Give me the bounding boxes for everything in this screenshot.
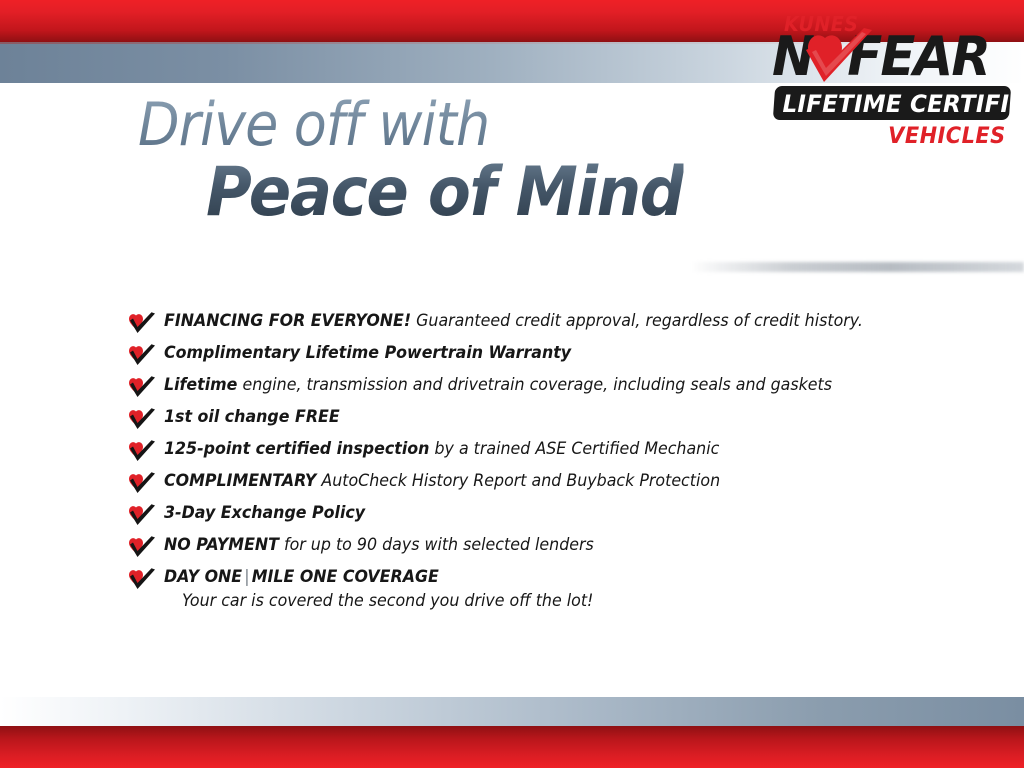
list-item-strong-a: DAY ONE: [164, 567, 242, 586]
heart-check-icon: [128, 408, 156, 430]
list-item: 125-point certified inspection by a trai…: [128, 437, 958, 469]
list-item-normal: for up to 90 days with selected lenders: [279, 535, 594, 554]
list-item-text: COMPLIMENTARY AutoCheck History Report a…: [164, 469, 926, 493]
bottom-slate-banner-bar: [0, 697, 1024, 726]
list-item-strong: 3-Day Exchange Policy: [164, 503, 365, 522]
header-divider: [690, 262, 1024, 272]
kunes-no-fear-logo: KUNES NFEAR LIFETIME CERTIFIED VEHICLES: [766, 12, 1010, 150]
list-item: NO PAYMENT for up to 90 days with select…: [128, 533, 958, 565]
headline-line-2: Peace of Mind: [206, 159, 683, 227]
list-item-pipe-separator: |: [242, 567, 252, 586]
list-item-text: FINANCING FOR EVERYONE! Guaranteed credi…: [164, 309, 926, 333]
heart-check-icon: [128, 376, 156, 398]
logo-certified-text: LIFETIME CERTIFIED: [783, 90, 1002, 118]
list-item: DAY ONE|MILE ONE COVERAGE Your car is co…: [128, 565, 958, 619]
list-item-strong: Complimentary Lifetime Powertrain Warran…: [164, 343, 571, 362]
list-item-subtext: Your car is covered the second you drive…: [182, 589, 927, 613]
list-item-normal: by a trained ASE Certified Mechanic: [429, 439, 719, 458]
benefits-list: FINANCING FOR EVERYONE! Guaranteed credi…: [128, 309, 958, 619]
heart-check-icon: [128, 440, 156, 462]
list-item-strong: Lifetime: [164, 375, 237, 394]
list-item: Lifetime engine, transmission and drivet…: [128, 373, 958, 405]
heart-check-icon: [128, 568, 156, 590]
list-item-strong: FINANCING FOR EVERYONE!: [164, 311, 411, 330]
list-item-strong: 125-point certified inspection: [164, 439, 429, 458]
heart-check-icon: [128, 344, 156, 366]
bottom-red-banner-bar: [0, 726, 1024, 768]
list-item: Complimentary Lifetime Powertrain Warran…: [128, 341, 958, 373]
headline-line-1: Drive off with: [138, 95, 666, 155]
list-item-text: NO PAYMENT for up to 90 days with select…: [164, 533, 926, 557]
list-item: FINANCING FOR EVERYONE! Guaranteed credi…: [128, 309, 958, 341]
heart-check-icon: [128, 472, 156, 494]
list-item-text: DAY ONE|MILE ONE COVERAGE: [164, 565, 926, 589]
list-item-strong: NO PAYMENT: [164, 535, 279, 554]
list-item: COMPLIMENTARY AutoCheck History Report a…: [128, 469, 958, 501]
list-item: 3-Day Exchange Policy: [128, 501, 958, 533]
heart-check-icon: [128, 504, 156, 526]
list-item-normal: AutoCheck History Report and Buyback Pro…: [316, 471, 720, 490]
list-item-strong-b: MILE ONE COVERAGE: [252, 567, 439, 586]
heart-check-icon: [802, 28, 876, 90]
list-item-text: 125-point certified inspection by a trai…: [164, 437, 926, 461]
heart-check-icon: [128, 536, 156, 558]
heart-check-icon: [128, 312, 156, 334]
logo-vehicles-text: VEHICLES: [888, 124, 1006, 149]
list-item-text: Complimentary Lifetime Powertrain Warran…: [164, 341, 926, 365]
list-item-strong: 1st oil change FREE: [164, 407, 340, 426]
page-title: Drive off with Peace of Mind: [138, 95, 725, 227]
list-item-text: Lifetime engine, transmission and drivet…: [164, 373, 926, 397]
list-item-strong: COMPLIMENTARY: [164, 471, 316, 490]
list-item-normal: engine, transmission and drivetrain cove…: [237, 375, 832, 394]
list-item-text: 3-Day Exchange Policy: [164, 501, 926, 525]
list-item-normal: Guaranteed credit approval, regardless o…: [411, 311, 863, 330]
list-item: 1st oil change FREE: [128, 405, 958, 437]
list-item-text: 1st oil change FREE: [164, 405, 926, 429]
